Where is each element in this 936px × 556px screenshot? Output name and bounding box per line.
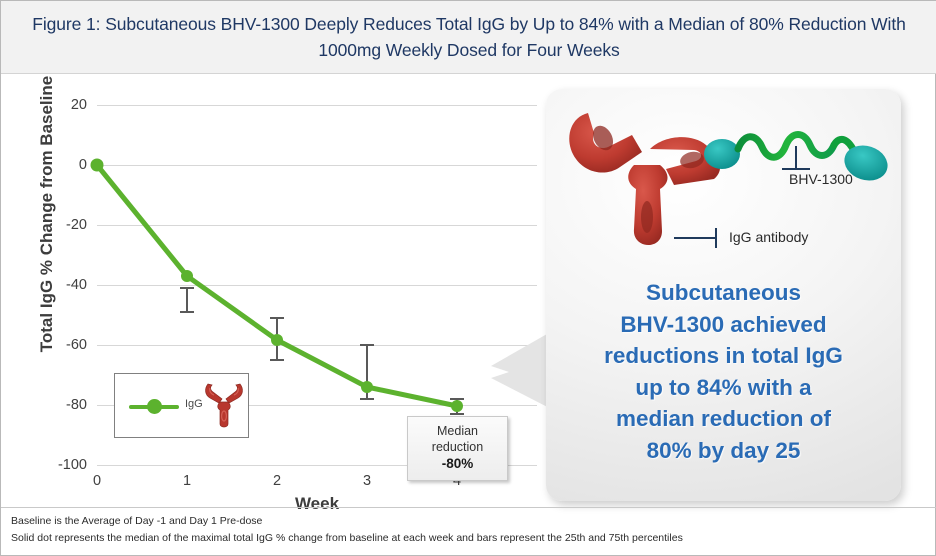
summary-callout-text: Subcutaneous BHV-1300 achieved reduction…	[564, 277, 883, 466]
summary-callout: BHV-1300 IgG antibody Subcutaneous BHV-1…	[546, 89, 901, 501]
legend-label-igg: IgG	[185, 398, 203, 410]
molecule-label-igg-antibody: IgG antibody	[729, 229, 808, 245]
callout-line-2: BHV-1300 achieved	[564, 309, 883, 341]
footnote-1: Baseline is the Average of Day -1 and Da…	[11, 513, 936, 530]
figure-container: Figure 1: Subcutaneous BHV-1300 Deeply R…	[0, 0, 936, 556]
legend-dot-swatch	[147, 399, 162, 414]
median-reduction-label: Median reduction	[416, 423, 499, 455]
igg-antibody-icon	[203, 380, 245, 432]
callout-line-4: up to 84% with a	[564, 372, 883, 404]
callout-line-5: median reduction of	[564, 403, 883, 435]
bhv-teal-head-left	[704, 139, 740, 169]
bhv-coil	[738, 135, 834, 158]
callout-line-1: Subcutaneous	[564, 277, 883, 309]
footnote-2: Solid dot represents the median of the m…	[11, 530, 936, 547]
callout-line-6: 80% by day 25	[564, 435, 883, 467]
median-reduction-annotation: Median reduction -80%	[407, 416, 508, 481]
figure-footnotes: Baseline is the Average of Day -1 and Da…	[1, 507, 936, 556]
chart-legend: IgG	[114, 373, 249, 438]
igg-leader-line	[674, 228, 716, 248]
median-reduction-value: -80%	[416, 455, 499, 473]
igg-line	[97, 165, 457, 406]
igg-fc-stem	[628, 165, 667, 245]
igg-left-arm	[569, 113, 642, 173]
figure-title: Figure 1: Subcutaneous BHV-1300 Deeply R…	[29, 11, 909, 63]
molecule-label-bhv1300: BHV-1300	[789, 171, 853, 187]
callout-line-3: reductions in total IgG	[564, 340, 883, 372]
figure-title-band: Figure 1: Subcutaneous BHV-1300 Deeply R…	[1, 1, 936, 74]
